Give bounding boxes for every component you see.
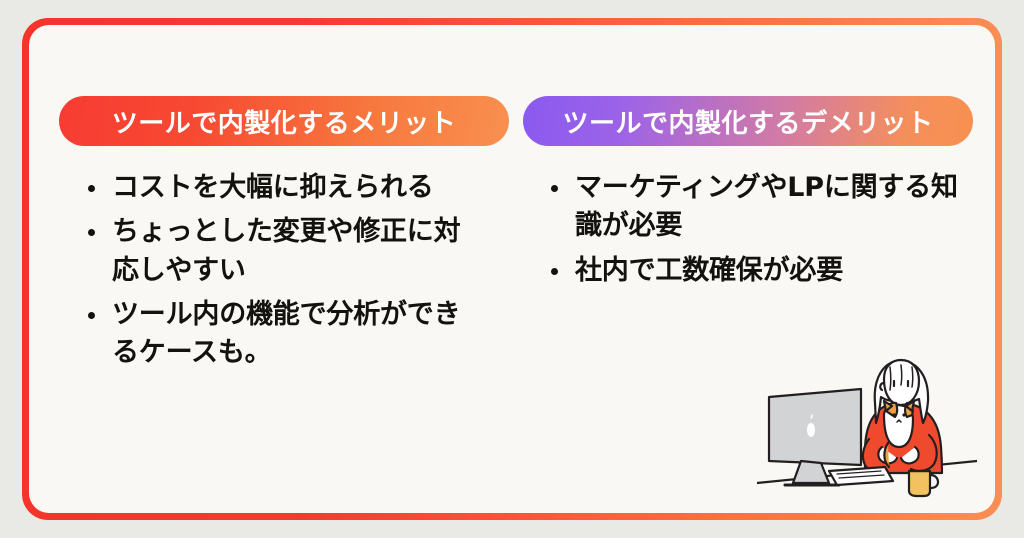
column-merit: ツールで内製化するメリット コストを大幅に抑えられる ちょっとした変更や修正に対… (29, 25, 515, 513)
list-item: ツール内の機能で分析ができるケースも。 (82, 296, 482, 373)
hair-strand-1 (890, 367, 891, 390)
hair-strand-3 (912, 367, 913, 387)
screenshot-root: ツールで内製化するメリット コストを大幅に抑えられる ちょっとした変更や修正に対… (0, 0, 1024, 538)
card-inner: ツールで内製化するメリット コストを大幅に抑えられる ちょっとした変更や修正に対… (29, 25, 995, 513)
coffee-mug (909, 471, 930, 496)
mug-handle (930, 475, 938, 488)
cat-eye-left (892, 413, 895, 416)
list-item: マーケティングやLPに関する知識が必要 (545, 169, 965, 246)
merit-list: コストを大幅に抑えられる ちょっとした変更や修正に対応しやすい ツール内の機能で… (82, 169, 482, 373)
badge-demerit: ツールで内製化するデメリット (523, 96, 973, 146)
card-gradient-frame: ツールで内製化するメリット コストを大幅に抑えられる ちょっとした変更や修正に対… (22, 18, 1002, 520)
list-item: コストを大幅に抑えられる (82, 169, 482, 207)
cat-eye-right (902, 413, 905, 416)
illustration-woman-with-cat-at-computer (757, 343, 977, 503)
list-item: ちょっとした変更や修正に対応しやすい (82, 213, 482, 290)
desktop-monitor (769, 389, 861, 465)
hair-strand-2 (901, 365, 902, 385)
badge-merit: ツールで内製化するメリット (59, 96, 509, 146)
list-item: 社内で工数確保が必要 (545, 252, 965, 290)
demerit-list: マーケティングやLPに関する知識が必要 社内で工数確保が必要 (545, 169, 965, 290)
